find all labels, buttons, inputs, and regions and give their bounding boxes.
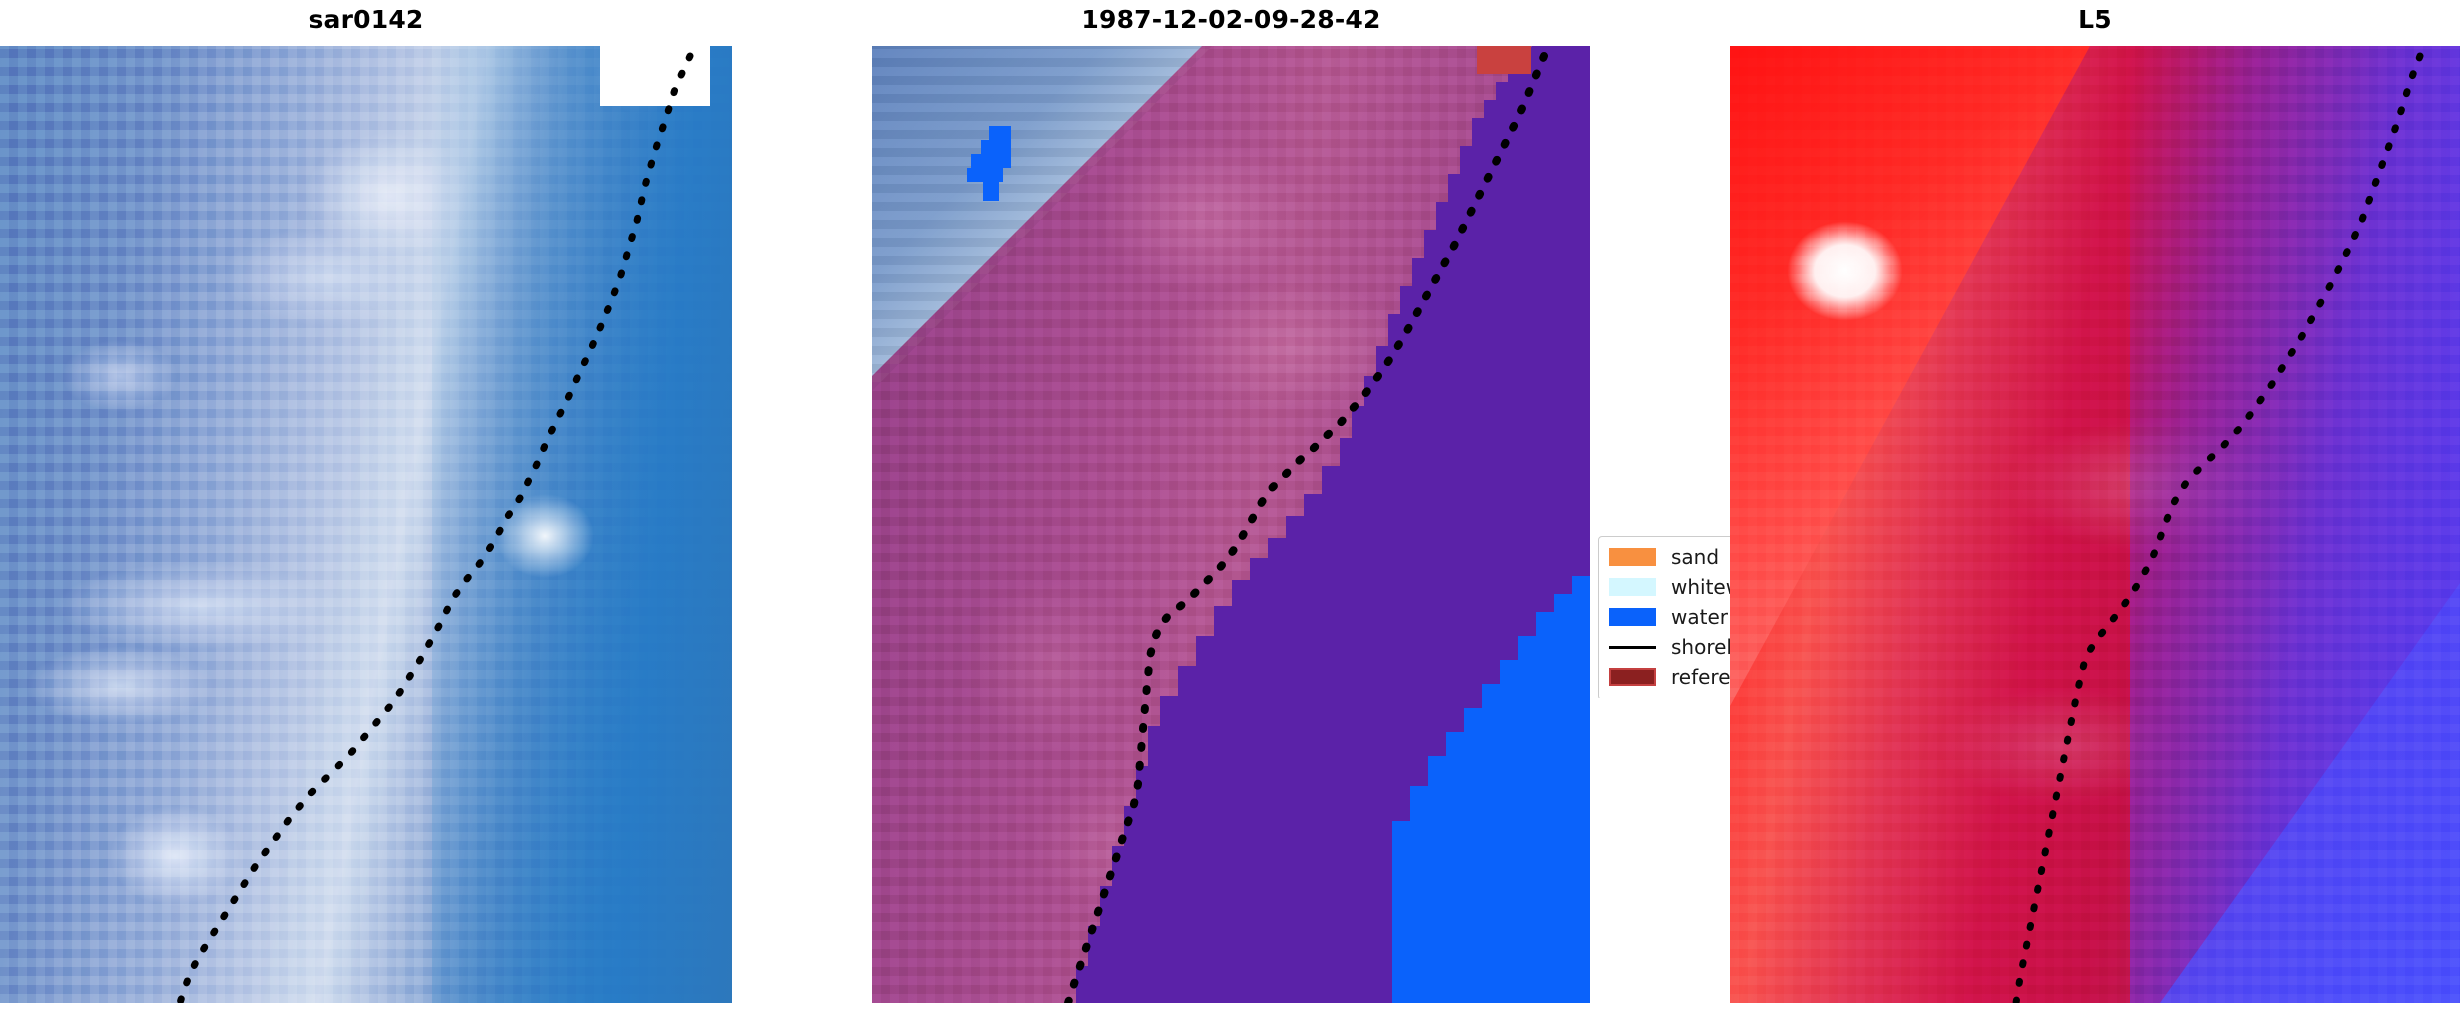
l5-pixel-grain	[1730, 46, 2460, 1003]
legend-label-sand: sand	[1671, 545, 1719, 569]
classified-reference-patch	[1477, 46, 1531, 74]
legend-item-water[interactable]: water	[1609, 605, 1728, 629]
shoreline-line-marker	[1609, 646, 1656, 649]
legend-item-reference-shoreline[interactable]: reference shoreline	[1609, 665, 1730, 689]
legend-item-whitewater[interactable]: whitewater	[1609, 575, 1730, 599]
reference-shoreline-swatch	[1609, 668, 1656, 686]
legend-label-water: water	[1671, 605, 1728, 629]
panel-image-sar[interactable]	[0, 46, 732, 1003]
classified-water-mask	[872, 46, 1590, 1003]
legend-label-whitewater: whitewater	[1671, 575, 1730, 599]
water-swatch	[1609, 608, 1656, 626]
figure-canvas: sar0142 1987-12-02-09-28-42	[0, 0, 2460, 1021]
sand-swatch	[1609, 548, 1656, 566]
panel-title-l5: L5	[1730, 5, 2460, 34]
legend-label-reference-shoreline: reference shoreline	[1671, 665, 1730, 689]
legend-item-sand[interactable]: sand	[1609, 545, 1719, 569]
sar-foam-region	[480, 476, 610, 596]
panel-title-classified: 1987-12-02-09-28-42	[872, 5, 1590, 34]
panel-image-classified[interactable]	[872, 46, 1590, 1003]
legend-item-shoreline[interactable]: shoreline	[1609, 635, 1730, 659]
whitewater-swatch	[1609, 578, 1656, 596]
legend-label-shoreline: shoreline	[1671, 635, 1730, 659]
sar-white-patch	[600, 46, 710, 106]
legend-clip-region: sand whitewater water shoreline referenc…	[1598, 536, 1730, 698]
panel-title-sar: sar0142	[0, 5, 732, 34]
legend-box[interactable]: sand whitewater water shoreline referenc…	[1598, 536, 1730, 698]
panel-image-l5[interactable]	[1730, 46, 2460, 1003]
